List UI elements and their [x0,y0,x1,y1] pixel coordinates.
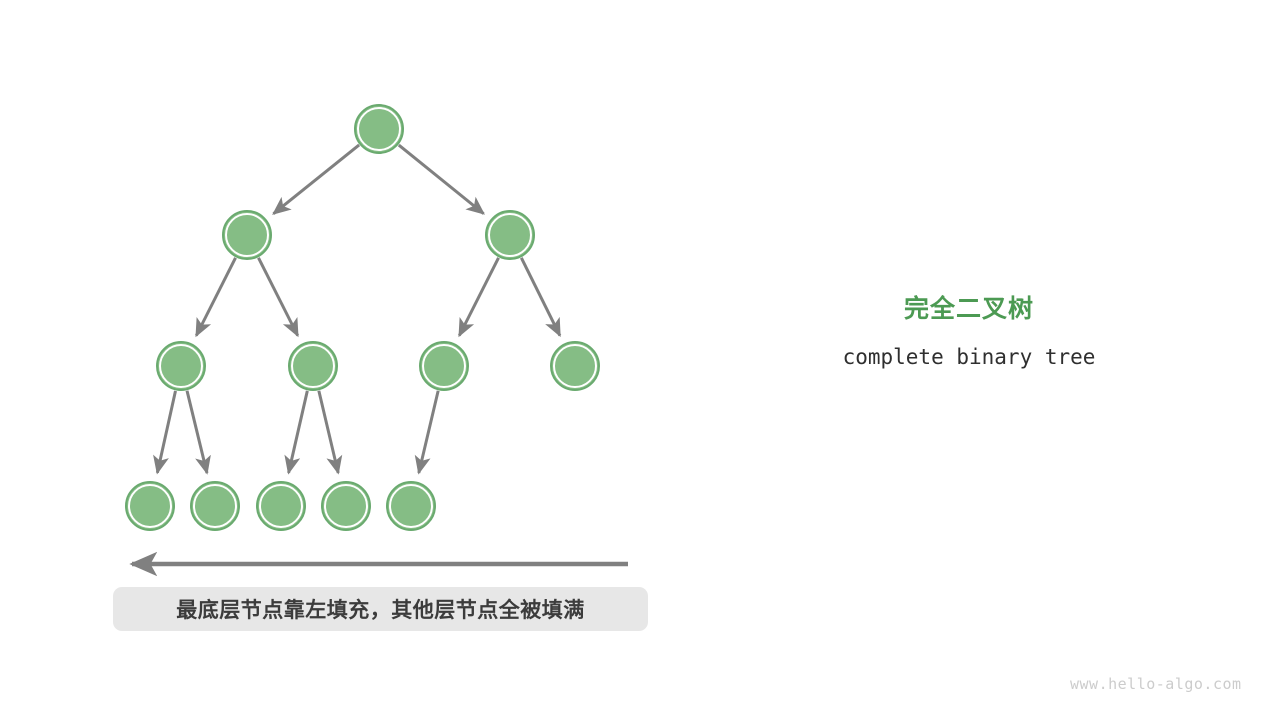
tree-node[interactable] [191,482,239,530]
tree-node[interactable] [126,482,174,530]
tree-node[interactable] [257,482,305,530]
caption-label: 最底层节点靠左填充，其他层节点全被填满 [113,587,648,631]
tree-node-fill [327,487,366,526]
tree-edge [419,391,438,473]
tree-node[interactable] [223,211,271,259]
tree-node[interactable] [322,482,370,530]
tree-edge [319,391,338,473]
tree-edge [258,258,297,336]
tree-edge [521,258,560,336]
tree-node-fill [196,487,235,526]
legend-title: 完全二叉树 [790,292,1148,326]
tree-edge [459,258,498,336]
tree-node-fill [131,487,170,526]
tree-node-fill [262,487,301,526]
tree-node-fill [294,347,333,386]
watermark-label: www.hello-algo.com [1070,675,1242,693]
tree-node[interactable] [387,482,435,530]
tree-edge [289,391,308,473]
legend-block: 完全二叉树 complete binary tree [790,292,1148,372]
tree-node-fill [360,110,399,149]
tree-edge [157,391,175,473]
tree-edges-group [157,145,560,473]
tree-node[interactable] [157,342,205,390]
tree-node[interactable] [355,105,403,153]
tree-node[interactable] [289,342,337,390]
tree-nodes-group [126,105,599,530]
tree-edge [196,258,235,336]
tree-edge [274,145,360,214]
tree-node-fill [556,347,595,386]
tree-node-fill [162,347,201,386]
tree-node[interactable] [551,342,599,390]
tree-node-fill [491,216,530,255]
tree-node[interactable] [420,342,468,390]
tree-node-fill [392,487,431,526]
tree-node-fill [425,347,464,386]
tree-edge [187,391,207,473]
legend-subtitle: complete binary tree [790,342,1148,372]
tree-node[interactable] [486,211,534,259]
tree-edge [399,145,484,214]
tree-node-fill [228,216,267,255]
